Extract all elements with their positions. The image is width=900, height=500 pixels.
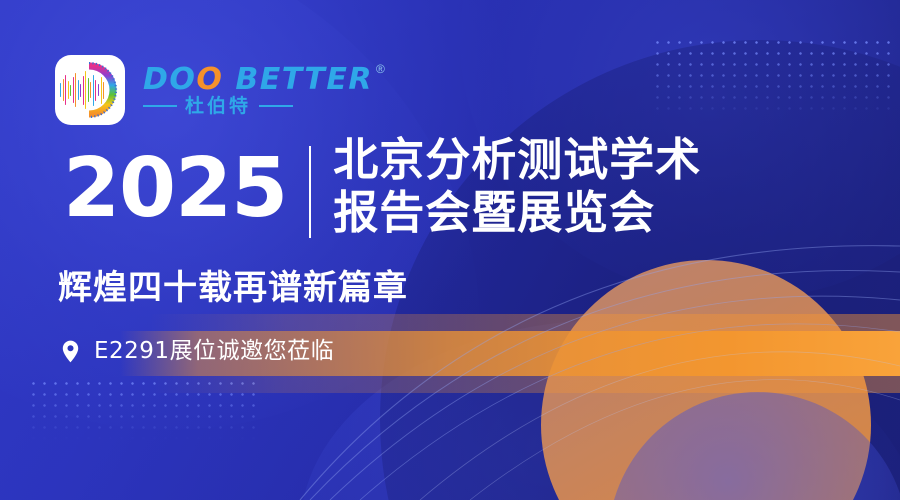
booth-text: E2291展位诚邀您莅临 <box>94 340 334 363</box>
headline-divider <box>309 146 311 238</box>
wordmark-dobetter: DOO BETTER <box>143 65 373 95</box>
location-pin-icon <box>58 339 83 364</box>
event-year: 2025 <box>63 148 287 230</box>
event-title: 北京分析测试学术 报告会暨展览会 <box>333 134 701 239</box>
wordmark-chinese: 杜伯特 <box>185 97 251 116</box>
wordmark-d: DO <box>143 62 196 97</box>
brand-wordmark: DOO BETTER ® 杜伯特 <box>143 65 385 116</box>
brand-logo[interactable]: DOO BETTER ® 杜伯特 <box>55 55 385 125</box>
wordmark-better: BETTER <box>223 62 373 97</box>
dobetter-spectrum-logo-icon <box>55 55 125 125</box>
registered-trademark-icon: ® <box>376 63 385 75</box>
wordmark-rule-right <box>259 105 293 107</box>
wordmark-rule-left <box>143 105 177 107</box>
headline-block: 2025 北京分析测试学术 报告会暨展览会 <box>63 134 701 239</box>
event-title-line1: 北京分析测试学术 <box>333 134 701 187</box>
event-promo-banner: DOO BETTER ® 杜伯特 2025 北京分析测试学术 报告会暨展览会 辉… <box>0 0 900 500</box>
event-title-line2: 报告会暨展览会 <box>333 187 701 240</box>
wordmark-o-orange: O <box>196 62 223 97</box>
rainbow-arc-icon <box>87 62 123 118</box>
booth-info: E2291展位诚邀您莅临 <box>58 339 334 364</box>
event-tagline: 辉煌四十载再谱新篇章 <box>58 271 408 305</box>
